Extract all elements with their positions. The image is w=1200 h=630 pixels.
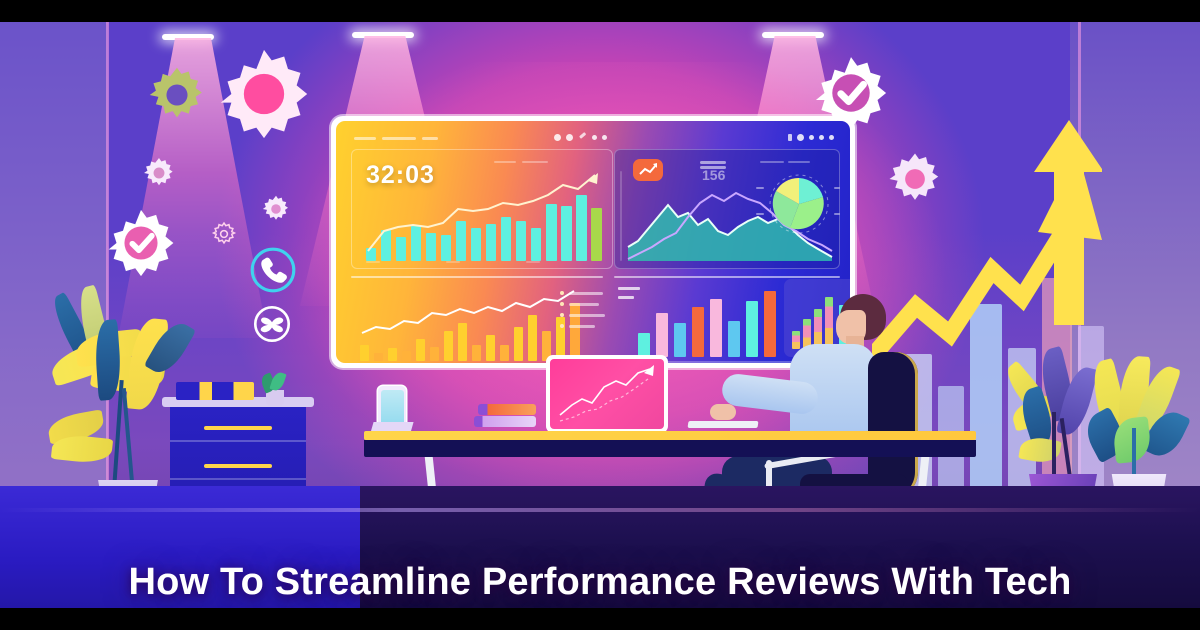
pie-label (834, 213, 840, 215)
worker-hand (710, 404, 736, 420)
side-label (618, 287, 640, 290)
letterbox-top (0, 0, 1200, 22)
pie-label (756, 213, 764, 215)
revenue-bar-chart (360, 289, 584, 361)
chart-bar (674, 323, 686, 357)
axis-label (446, 261, 460, 263)
panel-caption-a (494, 161, 516, 163)
book-orange (478, 404, 536, 415)
toolbar-circle-icon[interactable] (566, 134, 573, 141)
stacked-bar (825, 297, 833, 349)
pie-chart (768, 173, 830, 235)
letterbox-bottom (0, 608, 1200, 630)
chart-bar (764, 291, 776, 357)
stacked-bar (814, 309, 822, 349)
axis-label (526, 261, 540, 263)
chart-bar (728, 321, 740, 357)
panel-divider (614, 276, 840, 278)
legend-marker (560, 324, 564, 328)
axis-label (366, 261, 380, 263)
display-content: 32:03 (336, 121, 850, 363)
header-line-a (354, 137, 376, 140)
monitor-line-chart (550, 359, 664, 429)
metric-underline (700, 161, 726, 164)
gear-small-white-1-icon (142, 156, 176, 190)
side-label (618, 296, 634, 299)
legend-label (569, 325, 595, 328)
legend-marker (560, 302, 564, 306)
trend-line (364, 169, 604, 261)
toolbar-dot-icon[interactable] (592, 135, 597, 140)
toolbar-circle-icon[interactable] (554, 134, 561, 141)
plant-stem (1132, 428, 1136, 480)
legend-label (569, 314, 605, 317)
toolbar-icon[interactable] (809, 135, 814, 140)
toolbar-icon[interactable] (788, 134, 792, 141)
office-scene: 32:03 (0, 22, 1200, 608)
toolbar-icon[interactable] (829, 135, 834, 140)
panel-divider (351, 276, 603, 278)
phone-call-icon (247, 244, 299, 296)
plant-stem (1052, 412, 1056, 480)
floor-sheen (0, 508, 1200, 512)
trend-line (360, 289, 586, 361)
chart-bar (692, 307, 704, 357)
desk-apron (364, 440, 976, 457)
gear-plain-right-icon (886, 150, 944, 208)
chart-bar (746, 301, 758, 357)
toolbar-pencil-icon[interactable] (579, 132, 586, 138)
book-purple (474, 416, 536, 427)
chart-bar (638, 333, 650, 357)
comparison-bar-chart (638, 283, 778, 357)
fan-flower-icon (250, 302, 294, 346)
legend-label (569, 292, 603, 295)
cabinet-plant-small (258, 374, 290, 404)
pie-label (834, 187, 840, 189)
gear-large-pink-icon (216, 46, 312, 142)
monitor-screen (550, 359, 664, 429)
panel-caption (788, 161, 810, 163)
panel-caption-b (522, 161, 548, 163)
legend-label (569, 303, 599, 306)
y-axis-ticks (620, 171, 622, 261)
toolbar-dot-icon[interactable] (602, 135, 607, 140)
panel-caption (760, 161, 784, 163)
gear-olive-icon (146, 64, 208, 126)
legend-marker (560, 291, 564, 295)
banner-image: 32:03 (0, 0, 1200, 630)
toolbar-icon[interactable] (797, 134, 804, 141)
toolbar-icon[interactable] (819, 135, 824, 140)
analytics-display[interactable]: 32:03 (331, 116, 855, 368)
stacked-bar (792, 331, 800, 349)
pie-label (756, 187, 764, 189)
gear-outline-tiny-icon (211, 221, 237, 247)
cyan-bar-chart (364, 169, 596, 261)
title-overlay: How To Streamline Performance Reviews Wi… (0, 560, 1200, 604)
chart-bar (710, 299, 722, 357)
header-line-b (382, 137, 416, 140)
gear-check-left-icon (105, 207, 177, 279)
page-title: How To Streamline Performance Reviews Wi… (90, 560, 1110, 604)
header-line-c (422, 137, 438, 140)
chart-bar (656, 313, 668, 357)
legend-marker (560, 313, 564, 317)
keyboard[interactable] (688, 421, 759, 428)
desk-surface (364, 431, 976, 440)
gear-small-white-2-icon (261, 194, 291, 224)
desk-monitor[interactable] (546, 355, 668, 433)
